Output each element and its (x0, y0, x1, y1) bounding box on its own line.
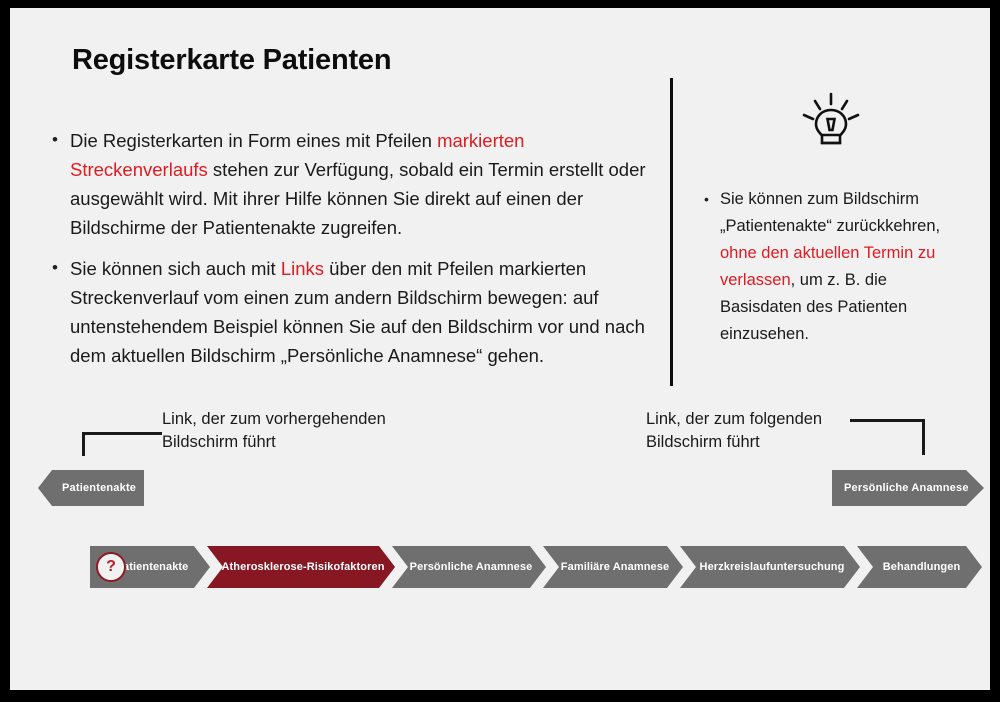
connector-line-previous-vertical (82, 432, 85, 456)
page-title: Registerkarte Patienten (72, 44, 391, 77)
tip-bullet-text: Sie können zum Bildschirm „Patientenakte… (720, 186, 950, 348)
breadcrumb-step[interactable]: Familiäre Anamnese (543, 546, 683, 588)
callout-label-previous: Link, der zum vorhergehenden Bildschirm … (162, 408, 412, 454)
bullet-marker: • (48, 126, 70, 154)
breadcrumb-step[interactable]: Herzkreislaufuntersuchung (680, 546, 860, 588)
bullet-item-2: • Sie können sich auch mit Links über de… (48, 254, 648, 370)
bullet-2-part1: Sie können sich auch mit (70, 258, 281, 279)
bullet-marker: • (48, 254, 70, 282)
link-arrow-previous-screen[interactable]: Patientenakte (38, 470, 144, 506)
vertical-divider (670, 78, 673, 386)
tip-part1: Sie können zum Bildschirm „Patientenakte… (720, 190, 940, 235)
bullet-item-1: • Die Registerkarten in Form eines mit P… (48, 126, 648, 242)
breadcrumb-step[interactable]: Persönliche Anamnese (392, 546, 546, 588)
link-arrow-next-screen[interactable]: Persönliche Anamnese (832, 470, 984, 506)
bullet-2-highlight: Links (281, 258, 324, 279)
bullet-1-part1: Die Registerkarten in Form eines mit Pfe… (70, 130, 437, 151)
slide-canvas: Registerkarte Patienten • Die Registerka… (10, 8, 990, 690)
breadcrumb-step[interactable]: Atherosklerose-Risikofaktoren (207, 546, 395, 588)
breadcrumb: PatientenakteAtherosklerose-Risikofaktor… (90, 546, 979, 588)
bullet-text-2: Sie können sich auch mit Links über den … (70, 254, 648, 370)
help-badge[interactable]: ? (96, 552, 126, 582)
tip-bullet-item: • Sie können zum Bildschirm „Patientenak… (700, 186, 950, 348)
connector-line-next-horizontal (850, 419, 925, 422)
connector-line-previous-horizontal (82, 432, 162, 435)
callout-label-next: Link, der zum folgenden Bildschirm führt (646, 408, 866, 454)
lightbulb-icon (798, 90, 864, 156)
bullet-marker: • (700, 186, 720, 213)
connector-line-next-vertical (922, 419, 925, 455)
breadcrumb-step[interactable]: Behandlungen (857, 546, 982, 588)
bullet-text-1: Die Registerkarten in Form eines mit Pfe… (70, 126, 648, 242)
